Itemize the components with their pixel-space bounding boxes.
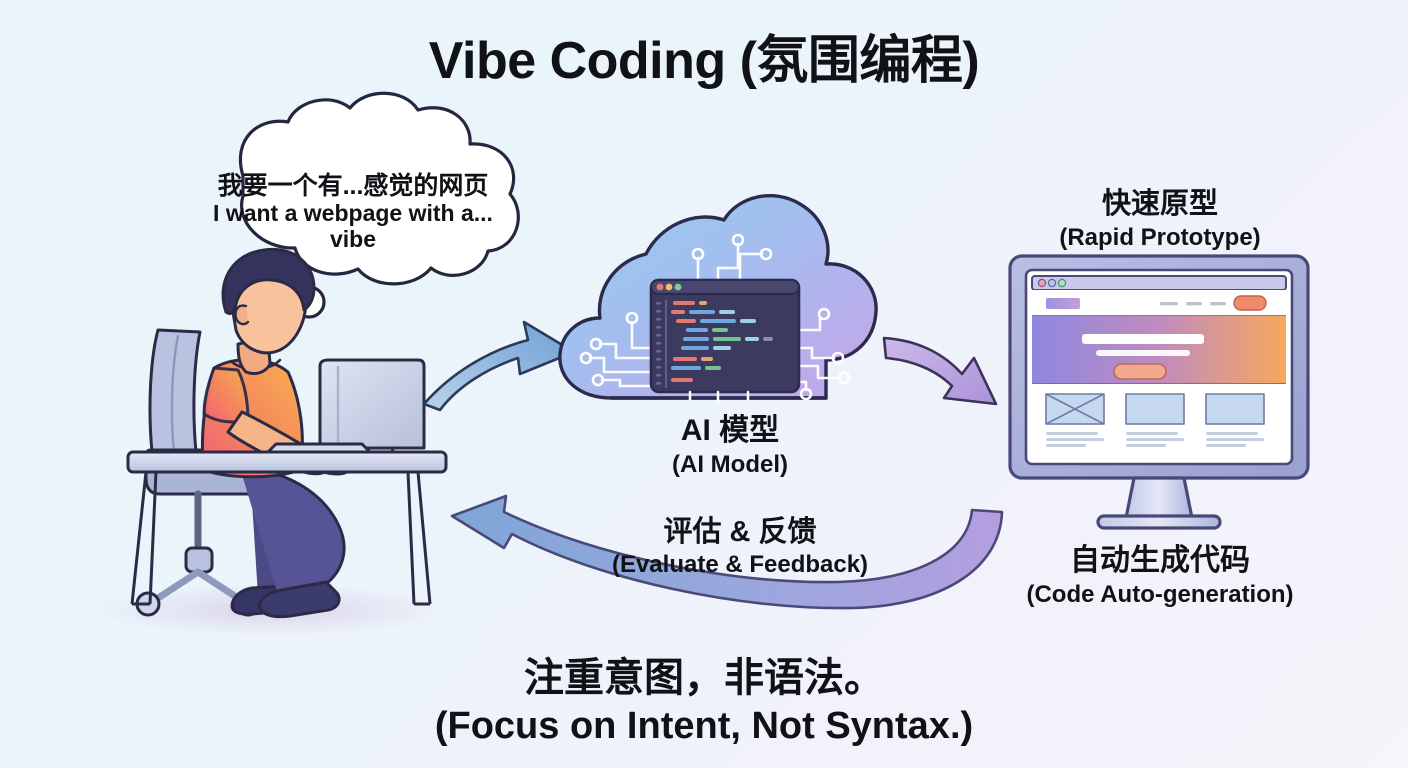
tagline: 注重意图，非语法。 (Focus on Intent, Not Syntax.) [0, 645, 1408, 748]
label-rapid-prototype-cn: 快速原型 [960, 180, 1360, 222]
thought-bubble-text: 我要一个有...感觉的网页 I want a webpage with a...… [178, 172, 528, 253]
tagline-en: (Focus on Intent, Not Syntax.) [0, 705, 1408, 748]
label-code-generation-cn: 自动生成代码 [950, 535, 1370, 579]
label-rapid-prototype-en: (Rapid Prototype) [960, 224, 1360, 252]
label-rapid-prototype: 快速原型 (Rapid Prototype) [960, 180, 1360, 252]
label-ai-model-cn: AI 模型 [520, 405, 940, 449]
thought-line-en: I want a webpage with a... [178, 200, 528, 226]
label-code-generation: 自动生成代码 (Code Auto-generation) [950, 535, 1370, 609]
thought-line-cn: 我要一个有...感觉的网页 [178, 172, 528, 200]
desk-top [128, 452, 446, 472]
label-ai-model-en: (AI Model) [520, 451, 940, 479]
prototype-monitor [1010, 256, 1308, 528]
monitor-base [1098, 516, 1220, 528]
mockup-cta-nav [1234, 296, 1266, 310]
ai-model-cloud [560, 196, 876, 402]
mockup-logo [1046, 298, 1080, 309]
mockup-cards [1032, 384, 1286, 458]
label-evaluate-feedback-cn: 评估 & 反馈 [580, 508, 900, 550]
label-evaluate-feedback: 评估 & 反馈 (Evaluate & Feedback) [580, 508, 900, 579]
arrow-person-to-ai [424, 322, 574, 410]
code-window [651, 280, 799, 392]
mockup-cta-hero [1114, 364, 1166, 379]
desk-monitor-screen [320, 360, 424, 448]
tagline-cn: 注重意图，非语法。 [0, 645, 1408, 703]
label-code-generation-en: (Code Auto-generation) [950, 581, 1370, 609]
monitor-neck [1126, 478, 1192, 518]
thought-line-en2: vibe [178, 226, 528, 252]
diagram-canvas: Vibe Coding (氛围编程) [0, 0, 1408, 768]
keyboard [268, 444, 370, 452]
arrow-ai-to-monitor [884, 338, 996, 404]
label-evaluate-feedback-en: (Evaluate & Feedback) [580, 551, 900, 579]
label-ai-model: AI 模型 (AI Model) [520, 405, 940, 479]
